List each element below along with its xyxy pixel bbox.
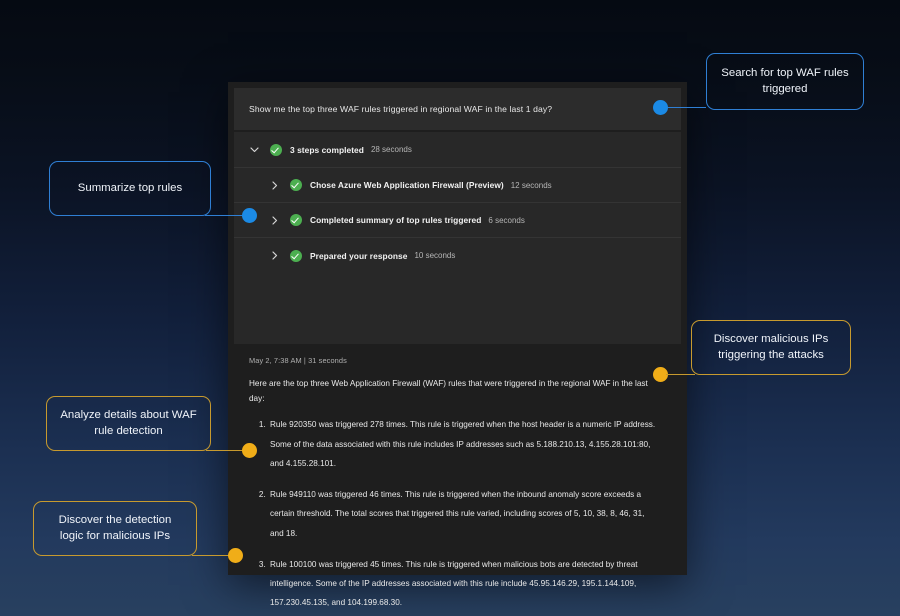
steps-summary-label: 3 steps completed xyxy=(290,145,364,155)
connector-discover-malicious-ips xyxy=(666,374,695,375)
answer-timestamp: May 2, 7:38 AM | 31 seconds xyxy=(249,356,659,365)
connector-analyze-waf-detection xyxy=(206,450,246,451)
steps-summary-duration: 28 seconds xyxy=(371,145,412,154)
callout-text: Discover the detection logic for malicio… xyxy=(46,513,184,544)
chevron-right-icon[interactable] xyxy=(268,179,281,192)
step-duration: 10 seconds xyxy=(414,251,455,260)
connector-search-top-waf xyxy=(666,107,706,108)
callout-detection-logic: Discover the detection logic for malicio… xyxy=(33,501,197,556)
callout-summarize-top-rules: Summarize top rules xyxy=(49,161,211,216)
answer-intro-text: Here are the top three Web Application F… xyxy=(249,376,659,406)
marker-dot-analyze-waf-detection xyxy=(242,443,257,458)
step-row[interactable]: Prepared your response 10 seconds xyxy=(234,238,681,273)
callout-discover-malicious-ips: Discover malicious IPs triggering the at… xyxy=(691,320,851,375)
chevron-right-icon[interactable] xyxy=(268,249,281,262)
success-check-icon xyxy=(290,214,302,226)
answer-rule-list: Rule 920350 was triggered 278 times. Thi… xyxy=(249,415,659,612)
steps-summary-row[interactable]: 3 steps completed 28 seconds xyxy=(234,132,681,168)
success-check-icon xyxy=(270,144,282,156)
callout-text: Search for top WAF rules triggered xyxy=(719,66,851,97)
list-item: Rule 949110 was triggered 46 times. This… xyxy=(268,485,659,543)
step-row[interactable]: Completed summary of top rules triggered… xyxy=(234,203,681,238)
step-row[interactable]: Chose Azure Web Application Firewall (Pr… xyxy=(234,168,681,203)
step-label: Completed summary of top rules triggered xyxy=(310,215,481,225)
chat-panel: Show me the top three WAF rules triggere… xyxy=(228,82,687,575)
success-check-icon xyxy=(290,179,302,191)
marker-dot-detection-logic xyxy=(228,548,243,563)
step-label: Chose Azure Web Application Firewall (Pr… xyxy=(310,180,504,190)
step-label: Prepared your response xyxy=(310,251,407,261)
step-duration: 6 seconds xyxy=(488,216,524,225)
list-item: Rule 920350 was triggered 278 times. Thi… xyxy=(268,415,659,473)
callout-text: Discover malicious IPs triggering the at… xyxy=(704,332,838,363)
user-question-bubble: Show me the top three WAF rules triggere… xyxy=(234,88,681,130)
screenshot-stage: Show me the top three WAF rules triggere… xyxy=(0,0,900,616)
marker-dot-summarize-top-rules xyxy=(242,208,257,223)
chevron-right-icon[interactable] xyxy=(268,214,281,227)
chevron-down-icon[interactable] xyxy=(248,143,261,156)
assistant-answer: May 2, 7:38 AM | 31 seconds Here are the… xyxy=(234,346,681,569)
connector-summarize-top-rules xyxy=(205,215,245,216)
callout-text: Analyze details about WAF rule detection xyxy=(59,408,198,439)
marker-dot-search-top-waf xyxy=(653,100,668,115)
success-check-icon xyxy=(290,250,302,262)
callout-analyze-waf-detection: Analyze details about WAF rule detection xyxy=(46,396,211,451)
user-question-text: Show me the top three WAF rules triggere… xyxy=(249,104,552,114)
callout-text: Summarize top rules xyxy=(78,181,182,196)
callout-search-top-waf: Search for top WAF rules triggered xyxy=(706,53,864,110)
steps-card: 3 steps completed 28 seconds Chose Azure… xyxy=(234,132,681,344)
list-item: Rule 100100 was triggered 45 times. This… xyxy=(268,555,659,613)
step-duration: 12 seconds xyxy=(511,181,552,190)
